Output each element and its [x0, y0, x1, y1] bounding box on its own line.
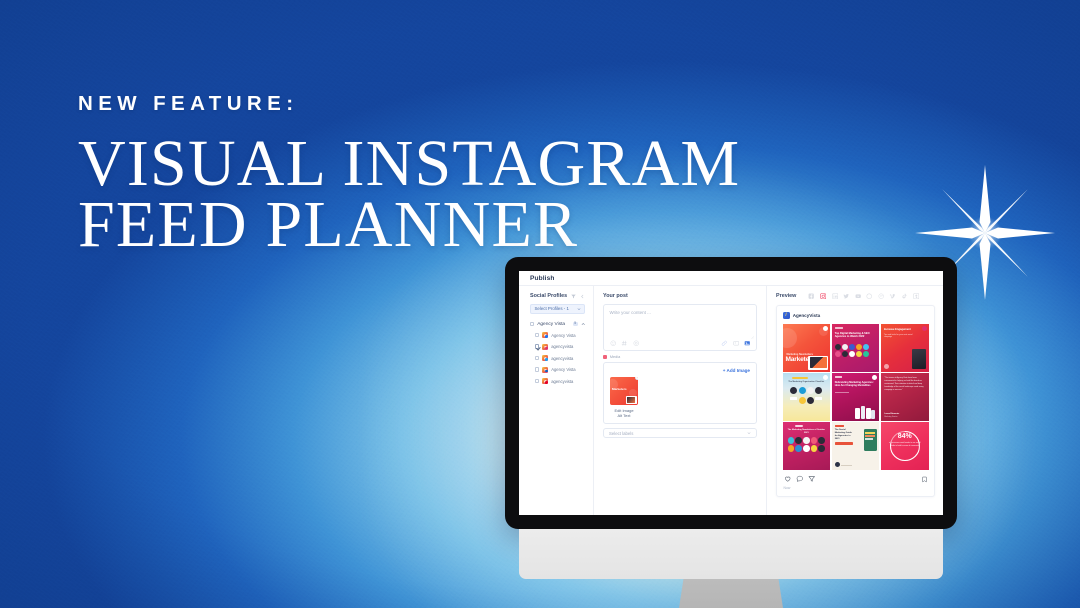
profile-name: Agency Vista — [551, 367, 575, 372]
select-profiles-value: Select Profiles - 1 — [535, 306, 569, 311]
monitor-chin — [519, 529, 943, 579]
profile-checkbox[interactable] — [535, 333, 539, 337]
list-item[interactable]: Agency Vista — [530, 332, 585, 338]
social-profiles-panel: Social Profiles Select Profiles - 1 Agen… — [519, 286, 594, 515]
avatar — [542, 332, 548, 338]
list-item[interactable]: agencyvista — [530, 355, 585, 361]
list-item[interactable]: agencyvista — [530, 344, 585, 350]
chevron-up-icon[interactable] — [581, 322, 586, 327]
profile-name: agencyvista — [551, 344, 573, 349]
feed-tile[interactable]: “The teams at Agency Vista have been ins… — [881, 373, 929, 421]
feed-tile[interactable]: The Marketing Organization Checklist — [783, 373, 831, 421]
profile-checkbox[interactable] — [535, 344, 539, 348]
agency-vista-logo: / — [783, 312, 790, 319]
page-title: VISUAL INSTAGRAM FEED PLANNER — [78, 133, 698, 256]
imac-monitor-mockup: Publish Social Profiles Select Profiles … — [505, 257, 957, 608]
multi-photo-badge — [823, 326, 828, 331]
vimeo-icon[interactable] — [889, 293, 895, 299]
profile-checkbox[interactable] — [535, 367, 539, 371]
bookmark-icon[interactable] — [921, 476, 928, 483]
linkedin-icon[interactable] — [832, 293, 838, 299]
your-post-label: Your post — [603, 293, 757, 299]
profile-checkbox[interactable] — [535, 379, 539, 383]
social-profiles-label: Social Profiles — [530, 293, 567, 299]
feed-tile[interactable]: 84% of consumers want brands to use soci… — [881, 422, 929, 470]
feed-tile[interactable]: Rebranding Marketing Agencies: How Are C… — [832, 373, 880, 421]
app-titlebar: Publish — [519, 271, 943, 286]
group-count-badge: 5 — [573, 322, 578, 326]
avatar — [542, 344, 548, 350]
feed-tile[interactable]: Marketing Newsletters Marketers — [783, 324, 831, 372]
list-item[interactable]: agencyvista — [530, 378, 585, 384]
instagram-preview-card: / AgencyVista Marketing Newsletters Mark… — [776, 305, 935, 497]
feed-tile[interactable]: Increase Engagement Tips and tricks for … — [881, 324, 929, 372]
at-mention-icon[interactable] — [633, 340, 640, 347]
add-image-button[interactable]: + Add Image — [723, 368, 750, 373]
media-thumbnail-wrap: Marketers × Edit Image Alt Text — [610, 377, 638, 418]
media-box: + Add Image Marketers × Edit Image Alt T… — [603, 362, 757, 424]
select-labels-dropdown[interactable]: Select labels — [603, 428, 757, 438]
feed-tile[interactable]: The Social Marketing Guide for Agencies … — [832, 422, 880, 470]
eyebrow-text: NEW FEATURE: — [78, 92, 698, 116]
media-thumbnail[interactable]: Marketers × — [610, 377, 638, 405]
instagram-badge — [922, 326, 927, 331]
profile-name: agencyvista — [551, 379, 573, 384]
link-icon[interactable] — [721, 340, 728, 347]
app-body: Social Profiles Select Profiles - 1 Agen… — [519, 286, 943, 515]
group-checkbox[interactable] — [530, 322, 534, 326]
avatar — [542, 367, 548, 373]
alt-text-button[interactable]: Edit Image Alt Text — [610, 408, 638, 418]
filter-icon[interactable] — [571, 294, 576, 299]
select-profiles-dropdown[interactable]: Select Profiles - 1 — [530, 304, 585, 314]
validation-text: Media — [610, 355, 620, 359]
image-icon[interactable] — [744, 340, 751, 347]
composer-placeholder: Write your content ... — [610, 310, 751, 315]
twitter-icon[interactable] — [843, 293, 849, 299]
profile-name: agencyvista — [551, 356, 573, 361]
title-line-2: FEED PLANNER — [78, 194, 698, 255]
tiktok-icon[interactable] — [901, 293, 907, 299]
youtube-icon[interactable] — [855, 293, 861, 299]
share-icon[interactable] — [808, 475, 816, 483]
monitor-stand — [677, 579, 785, 608]
error-icon — [603, 355, 607, 359]
profile-checkbox[interactable] — [535, 356, 539, 360]
facebook-icon[interactable] — [808, 293, 814, 299]
feed-grid: Marketing Newsletters Marketers — [783, 324, 929, 470]
hashtag-icon[interactable] — [621, 340, 628, 347]
comment-icon[interactable] — [796, 475, 804, 483]
thumbnail-caption: Marketers — [612, 387, 627, 391]
list-item[interactable]: Agency Vista — [530, 367, 585, 373]
google-business-icon[interactable] — [866, 293, 872, 299]
select-labels-placeholder: Select labels — [609, 431, 633, 436]
profile-name: Agency Vista — [551, 333, 575, 338]
composer-box[interactable]: Write your content ... — [603, 304, 757, 351]
preview-panel: Preview — [767, 286, 943, 515]
pinterest-icon[interactable] — [878, 293, 884, 299]
network-tabs — [808, 293, 919, 299]
preview-account-name: AgencyVista — [793, 313, 821, 318]
feed-tile[interactable]: The Marketing Newsletters of October 202… — [783, 422, 831, 470]
app-title: Publish — [530, 275, 555, 282]
monitor-screen: Publish Social Profiles Select Profiles … — [519, 271, 943, 515]
post-actions — [783, 475, 929, 483]
caret-down-icon — [577, 307, 581, 311]
profile-list: Agency Vista agencyvista agencyvista — [530, 332, 585, 384]
feed-tile[interactable]: Top Digital Marketing & SEO Agencies to … — [832, 324, 880, 372]
preview-account-row: / AgencyVista — [783, 312, 929, 324]
group-name: Agency Vista — [537, 322, 565, 327]
profile-group-row[interactable]: Agency Vista 5 — [530, 322, 585, 327]
publish-app: Publish Social Profiles Select Profiles … — [519, 271, 943, 515]
chevron-left-icon[interactable] — [580, 294, 585, 299]
preview-header: Preview — [776, 293, 935, 299]
social-profiles-header: Social Profiles — [530, 293, 585, 299]
resize-handle-icon[interactable] — [750, 335, 754, 339]
preview-label: Preview — [776, 293, 796, 299]
caret-down-icon — [747, 431, 751, 435]
alt-text-line-2: Alt Text — [617, 413, 630, 418]
avatar — [542, 355, 548, 361]
instagram-icon[interactable] — [820, 293, 826, 299]
validation-row: Media — [603, 355, 757, 359]
heart-icon[interactable] — [784, 475, 792, 483]
post-composer-panel: Your post Write your content ... — [594, 286, 767, 515]
remove-image-button[interactable]: × — [635, 377, 638, 380]
post-timestamp: Now — [783, 486, 929, 490]
headline-block: NEW FEATURE: VISUAL INSTAGRAM FEED PLANN… — [78, 92, 698, 256]
gif-icon[interactable] — [733, 340, 740, 347]
emoji-icon[interactable] — [610, 340, 617, 347]
tumblr-icon[interactable] — [913, 293, 919, 299]
avatar — [542, 378, 548, 384]
